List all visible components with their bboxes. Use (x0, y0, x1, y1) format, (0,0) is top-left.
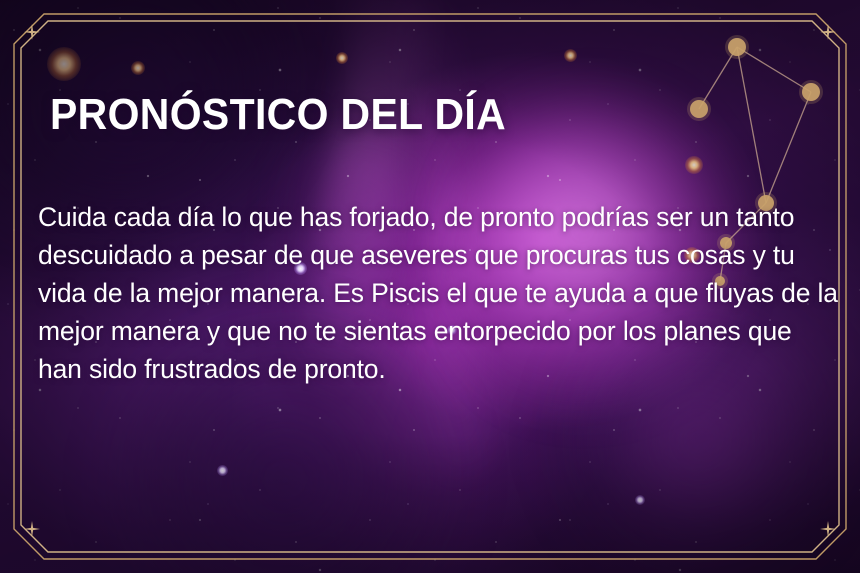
horoscope-card: PRONÓSTICO DEL DÍA Cuida cada día lo que… (0, 0, 860, 573)
horoscope-body-text: Cuida cada día lo que has forjado, de pr… (38, 198, 838, 388)
page-title: PRONÓSTICO DEL DÍA (50, 93, 506, 137)
card-content: PRONÓSTICO DEL DÍA Cuida cada día lo que… (0, 0, 860, 573)
